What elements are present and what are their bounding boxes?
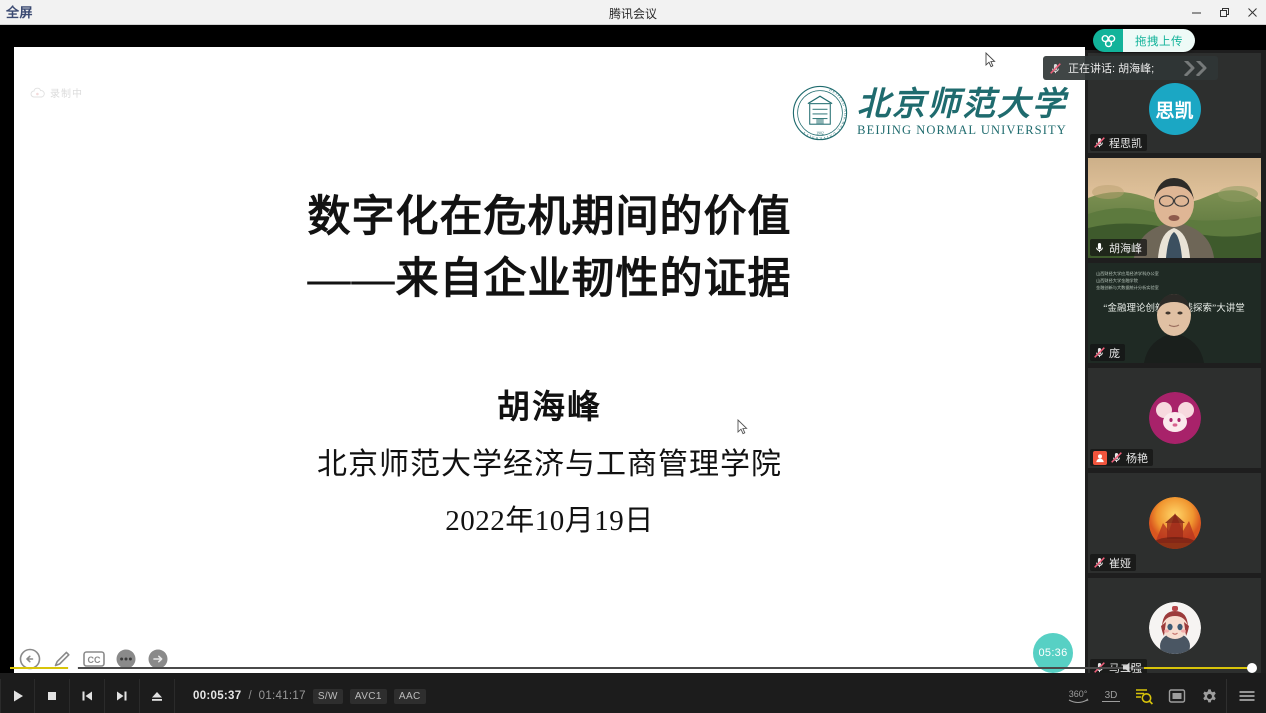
stop-button[interactable] — [35, 679, 70, 713]
bnu-name-en: BEIJING NORMAL UNIVERSITY — [857, 123, 1067, 138]
app-title: 腾讯会议 — [0, 5, 1266, 22]
speaker-icon[interactable] — [1122, 661, 1138, 674]
seek-handle[interactable] — [68, 663, 78, 673]
svg-text:3D: 3D — [1104, 690, 1117, 701]
window-controls — [1182, 0, 1266, 25]
speaking-toast: 正在讲话: 胡海峰; — [1043, 56, 1218, 80]
bnu-seal-icon: BEIJING NORMAL UNIVERSITY 1902 — [792, 85, 848, 141]
participant-name: 胡海峰 — [1109, 240, 1142, 256]
cloud-recording-indicator: 录制中 — [30, 85, 83, 100]
avatar — [1149, 392, 1201, 444]
drag-upload-label: 拖拽上传 — [1123, 29, 1195, 52]
svg-text:金融创新与大数据统计分析实验室: 金融创新与大数据统计分析实验室 — [1096, 284, 1159, 291]
slide-affiliation: 北京师范大学经济与工商管理学院 — [14, 439, 1085, 483]
participant-tile[interactable]: 山西财经大学应用经济学科办公室 山西财经大学金融学院 金融创新与大数据统计分析实… — [1088, 263, 1261, 363]
participant-name: 庞 — [1109, 345, 1120, 361]
gear-icon[interactable] — [1193, 679, 1226, 713]
bnu-name-cn: 北京师范大学 — [857, 88, 1067, 123]
participant-rail: 思凯 程思凯 — [1085, 50, 1266, 698]
total-time: 01:41:17 — [259, 690, 306, 702]
participant-name: 程思凯 — [1109, 135, 1142, 151]
hamburger-icon[interactable] — [1226, 679, 1266, 713]
close-button[interactable] — [1238, 0, 1266, 25]
avatar — [1149, 602, 1201, 654]
volume-slider[interactable] — [1144, 667, 1254, 669]
seek-progress — [10, 667, 73, 669]
mic-muted-icon — [1093, 556, 1106, 569]
mic-muted-icon — [1093, 346, 1106, 359]
participant-name-tag: 胡海峰 — [1090, 239, 1147, 256]
audio-codec-badge: AAC — [394, 689, 426, 704]
screenshot-window-icon[interactable] — [1160, 679, 1193, 713]
speaking-label: 正在讲话: 胡海峰; — [1068, 60, 1154, 76]
slide-date: 2022年10月19日 — [14, 497, 1085, 539]
previous-button[interactable] — [70, 679, 105, 713]
player-bar: 00:05:37 / 01:41:17 S/W AVC1 AAC — [0, 673, 1266, 713]
slide-title-line1: 数字化在危机期间的价值 — [308, 194, 792, 241]
chevron-collapse-icon[interactable] — [1178, 61, 1212, 76]
participant-tile[interactable]: 胡海峰 — [1088, 158, 1261, 258]
slide-title: 数字化在危机期间的价值 ——来自企业韧性的证据 — [14, 187, 1085, 312]
participant-name: 杨艳 — [1126, 450, 1148, 466]
eject-button[interactable] — [140, 679, 175, 713]
next-button[interactable] — [105, 679, 140, 713]
minimize-button[interactable] — [1182, 0, 1210, 25]
cloud-upload-icon — [1093, 29, 1123, 52]
host-badge-icon — [1093, 451, 1107, 465]
time-separator: / — [248, 690, 251, 702]
participant-tile[interactable]: 崔娅 — [1088, 473, 1261, 573]
svg-text:360°: 360° — [1068, 689, 1087, 699]
volume-control[interactable] — [1122, 661, 1254, 674]
seek-bar[interactable] — [0, 663, 1266, 673]
seek-track[interactable] — [10, 667, 1256, 669]
panorama-360-button[interactable]: 360° — [1061, 679, 1094, 713]
bnu-logo: BEIJING NORMAL UNIVERSITY 1902 北京师范大学 BE… — [792, 85, 1067, 141]
mic-muted-icon — [1093, 136, 1106, 149]
mic-muted-icon — [1049, 62, 1062, 75]
video-canvas: 录制中 BEIJING NORMAL UNIVERSITY — [0, 25, 1266, 673]
recording-label: 录制中 — [50, 85, 83, 100]
shared-screen-slide[interactable]: 录制中 BEIJING NORMAL UNIVERSITY — [14, 47, 1085, 681]
participant-name-tag: 崔娅 — [1090, 554, 1136, 571]
three-d-button[interactable]: 3D — [1094, 679, 1127, 713]
mic-muted-icon — [1110, 451, 1123, 464]
play-button[interactable] — [0, 679, 35, 713]
tencent-meeting-window: 全屏 腾讯会议 — [0, 0, 1266, 713]
cloud-icon — [30, 87, 45, 98]
restore-button[interactable] — [1210, 0, 1238, 25]
avatar — [1149, 497, 1201, 549]
slide-title-line2: ——来自企业韧性的证据 — [14, 249, 1085, 311]
decoder-badge: S/W — [313, 689, 343, 704]
magnifier-icon[interactable] — [1127, 679, 1160, 713]
title-bar: 全屏 腾讯会议 — [0, 0, 1266, 25]
volume-handle[interactable] — [1247, 663, 1257, 673]
mouse-cursor-top — [985, 52, 996, 68]
mouse-cursor-slide — [737, 419, 748, 435]
drag-upload-pill[interactable]: 拖拽上传 — [1093, 29, 1195, 52]
player-right-controls: 360° 3D — [1061, 679, 1266, 713]
participant-tile[interactable]: 杨艳 — [1088, 368, 1261, 468]
svg-text:山西财经大学金融学院: 山西财经大学金融学院 — [1096, 277, 1139, 284]
current-time: 00:05:37 — [193, 690, 241, 702]
svg-text:山西财经大学应用经济学科办公室: 山西财经大学应用经济学科办公室 — [1096, 270, 1159, 277]
participant-name: 崔娅 — [1109, 555, 1131, 571]
participant-name-tag: 杨艳 — [1090, 449, 1153, 466]
svg-text:1902: 1902 — [816, 131, 824, 135]
slide-speaker-name: 胡海峰 — [14, 380, 1085, 428]
avatar: 思凯 — [1149, 83, 1201, 135]
transport-controls: 00:05:37 / 01:41:17 S/W AVC1 AAC — [0, 679, 426, 713]
video-codec-badge: AVC1 — [350, 689, 387, 704]
time-display: 00:05:37 / 01:41:17 S/W AVC1 AAC — [175, 689, 426, 704]
participant-name-tag: 程思凯 — [1090, 134, 1147, 151]
participant-name-tag: 庞 — [1090, 344, 1125, 361]
mic-active-icon — [1093, 241, 1106, 254]
